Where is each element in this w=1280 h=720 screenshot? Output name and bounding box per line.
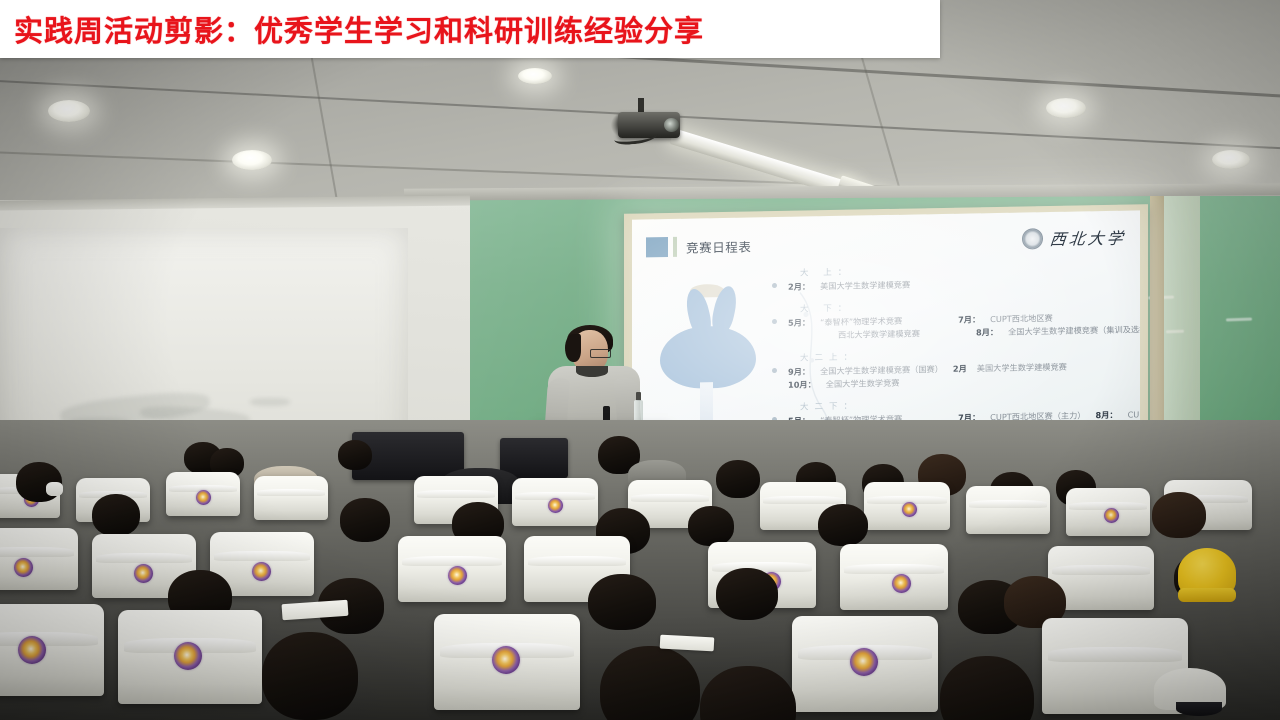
chair xyxy=(0,528,78,590)
bullet-dot-icon xyxy=(772,283,777,288)
month-label: 8月： xyxy=(976,326,998,339)
group-lines: 5月： “泰智杯”物理学术竞赛 7月： CUPT西北地区赛 西北大学数学建模竞赛… xyxy=(788,311,1124,343)
chair-emblem xyxy=(492,646,520,674)
slide-title-bar: 竞赛日程表 xyxy=(646,235,752,257)
cap-brim xyxy=(1176,702,1222,716)
chair-emblem xyxy=(892,574,911,593)
presenter-collar xyxy=(576,366,608,377)
slide-title-accent-bar xyxy=(673,237,677,257)
chair-emblem xyxy=(18,636,46,664)
beanie-brim xyxy=(1178,588,1236,602)
audience-head xyxy=(1152,492,1206,538)
chair-emblem xyxy=(448,566,467,585)
chair xyxy=(254,476,328,520)
audience-head xyxy=(92,494,140,536)
ceiling-downlight xyxy=(48,100,90,122)
presenter-hair-side xyxy=(565,334,581,362)
audience-head xyxy=(716,568,778,620)
month-label: 2月： xyxy=(788,280,810,293)
event-label: CUPT西北地区赛 xyxy=(990,312,1053,326)
university-logo-text: 西北大学 xyxy=(1049,225,1128,250)
ceiling-downlight xyxy=(518,68,552,84)
ceiling-downlight xyxy=(1212,150,1250,169)
schedule-group: 大 上： 2月： 美国大学生数学建模竞赛 xyxy=(758,261,1124,295)
event-label: 西北大学数学建模竞赛 xyxy=(838,327,966,342)
month-label xyxy=(788,329,828,343)
university-logo: 西北大学 xyxy=(1022,225,1126,251)
event-label: 美国大学生数学建模竞赛 xyxy=(820,279,910,294)
chair-emblem xyxy=(902,502,917,517)
paper-sheet xyxy=(660,635,715,652)
chair-emblem xyxy=(174,642,202,670)
ceiling-downlight xyxy=(1046,98,1086,118)
projector-lens-icon xyxy=(664,118,679,132)
month-label: 10月： xyxy=(788,378,816,392)
audience-head xyxy=(338,440,372,470)
chair xyxy=(0,604,104,696)
event-label: 全国大学生数学建模竞赛（国赛） xyxy=(820,363,943,378)
ceiling-downlight xyxy=(232,150,272,170)
banner-title: 实践周活动剪影：优秀学生学习和科研训练经验分享 xyxy=(14,8,704,50)
audience-head xyxy=(688,506,734,546)
audience-head xyxy=(818,504,868,546)
chair-emblem xyxy=(134,564,153,583)
event-label: 全国大学生数学建模竞赛（集训及选拔） xyxy=(1008,323,1140,339)
audience-head xyxy=(588,574,656,630)
schedule-group: 大 下： 5月： “泰智杯”物理学术竞赛 7月： CUPT西北地区赛 西北大学数… xyxy=(758,297,1124,344)
slide-title-accent-block xyxy=(646,237,668,257)
event-label: 全国大学生数学竞赛 xyxy=(826,377,900,391)
title-banner: 实践周活动剪影：优秀学生学习和科研训练经验分享 xyxy=(0,0,940,58)
chair-emblem xyxy=(548,498,563,513)
audience-head xyxy=(340,498,390,542)
university-seal-icon xyxy=(1022,228,1043,249)
chair-emblem xyxy=(1104,508,1119,523)
chair-emblem xyxy=(252,562,271,581)
face-mask xyxy=(46,482,63,496)
chair-emblem xyxy=(850,648,878,676)
chair-emblem xyxy=(14,558,33,577)
bullet-dot-icon xyxy=(772,319,777,324)
month-label: 7月： xyxy=(958,313,980,326)
event-label: 美国大学生数学建模竞赛 xyxy=(977,361,1067,376)
chair xyxy=(966,486,1050,534)
projector-cable xyxy=(613,126,658,145)
schedule-group: 大二上： 9月： 全国大学生数学建模竞赛（国赛） 2月 美国大学生数学建模竞赛 … xyxy=(758,346,1124,393)
audience-area xyxy=(0,420,1280,720)
month-label: 5月： xyxy=(788,316,810,329)
month-label: 9月： xyxy=(788,365,810,378)
month-label: 2月 xyxy=(953,363,967,376)
audience-head xyxy=(600,646,700,720)
audience-head xyxy=(262,632,358,720)
ceiling-projector xyxy=(608,104,694,144)
bullet-dot-icon xyxy=(772,368,777,373)
chair-emblem xyxy=(196,490,211,505)
screenshot-root: 竞赛日程表 西北大学 xyxy=(0,0,1280,720)
slide-title: 竞赛日程表 xyxy=(686,236,752,256)
bunny-head xyxy=(660,325,756,389)
glasses-icon xyxy=(590,349,611,358)
whiteboard-smudge xyxy=(250,398,290,406)
lecture-hall-scene: 竞赛日程表 西北大学 xyxy=(0,0,1280,720)
group-lines: 9月： 全国大学生数学建模竞赛（国赛） 2月 美国大学生数学建模竞赛 10月： … xyxy=(788,360,1124,392)
audience-head xyxy=(716,460,760,498)
